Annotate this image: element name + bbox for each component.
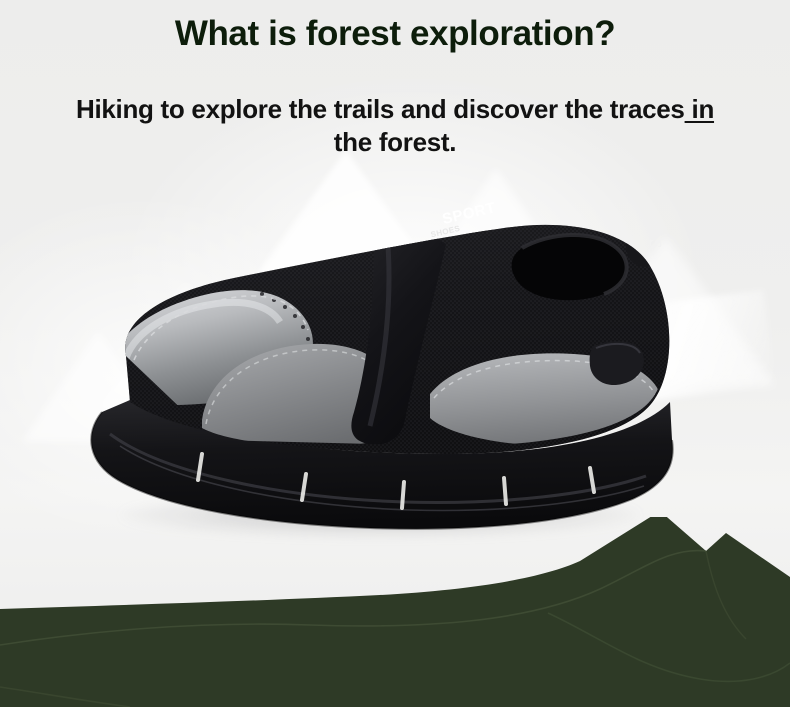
subtitle-segment-before: traces <box>610 94 685 124</box>
subtitle-line-1: Hiking to explore the trails and discove… <box>76 94 603 124</box>
page-subtitle: Hiking to explore the trails and discove… <box>60 93 730 159</box>
tongue-label-text: SPORT <box>441 199 498 228</box>
green-mountain-shape <box>0 517 790 707</box>
green-foreground <box>0 517 790 707</box>
subtitle-segment-after: the forest. <box>334 127 456 157</box>
page-title: What is forest exploration? <box>0 14 790 54</box>
forest-exploration-banner: What is forest exploration? Hiking to ex… <box>0 0 790 707</box>
heel-tab-logo-text: S <box>646 239 665 249</box>
product-image-sneaker: SPORT SHOES S <box>74 188 694 538</box>
subtitle-segment-underlined: in <box>685 94 714 124</box>
